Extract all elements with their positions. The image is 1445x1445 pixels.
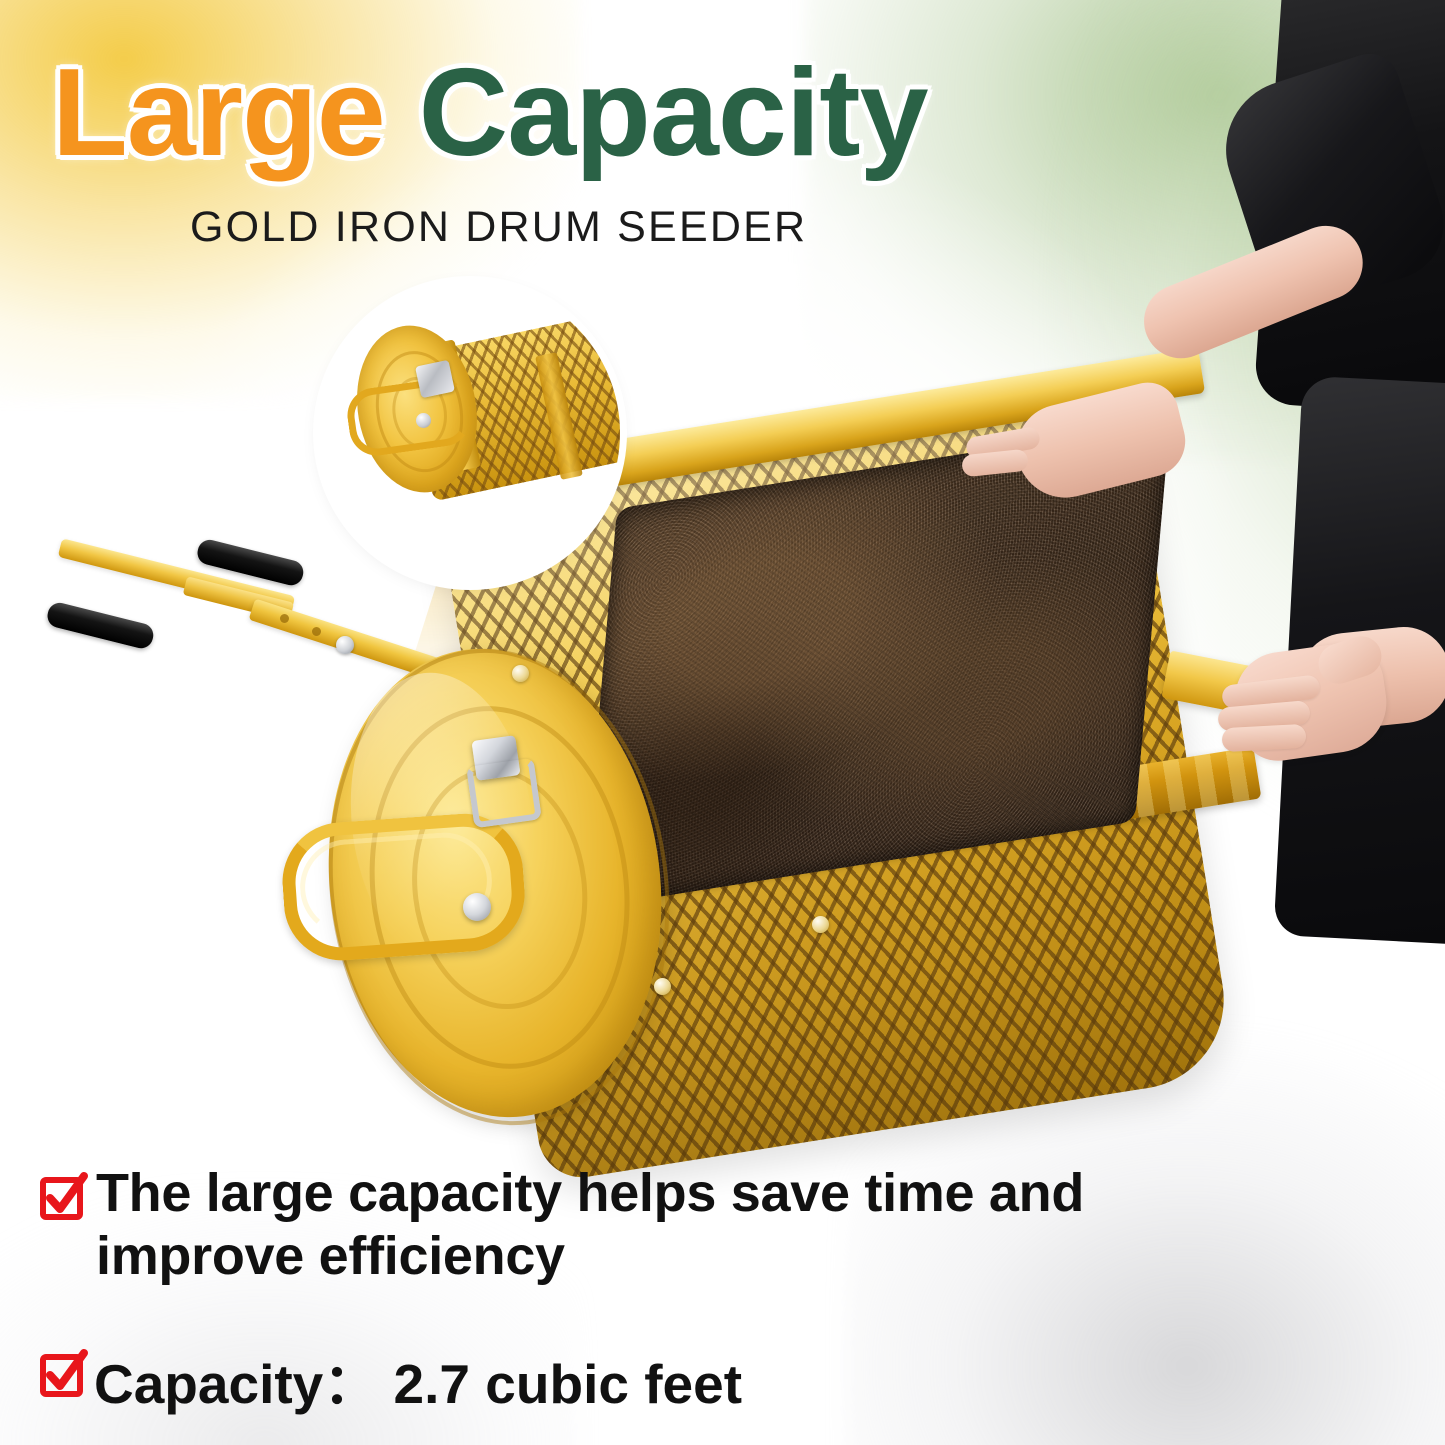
- checkbox-checked-icon: [40, 1351, 86, 1397]
- feature-bullet-list: The large capacity helps save time and i…: [40, 1162, 1240, 1433]
- checkbox-checked-icon: [40, 1174, 86, 1220]
- list-item: The large capacity helps save time and i…: [40, 1162, 1240, 1287]
- bullet-text: Capacity： 2.7 cubic feet: [94, 1339, 742, 1419]
- inset-bolt: [416, 413, 431, 428]
- bullet-text: The large capacity helps save time and i…: [96, 1162, 1240, 1287]
- product-marketing-image: LargeCapacity GOLD IRON DRUM SEEDER: [0, 0, 1445, 1445]
- inset-scene: [320, 283, 620, 583]
- zoom-callout-inset: [320, 283, 620, 583]
- person-finger: [1221, 724, 1306, 752]
- list-item: Capacity： 2.7 cubic feet: [40, 1339, 1240, 1419]
